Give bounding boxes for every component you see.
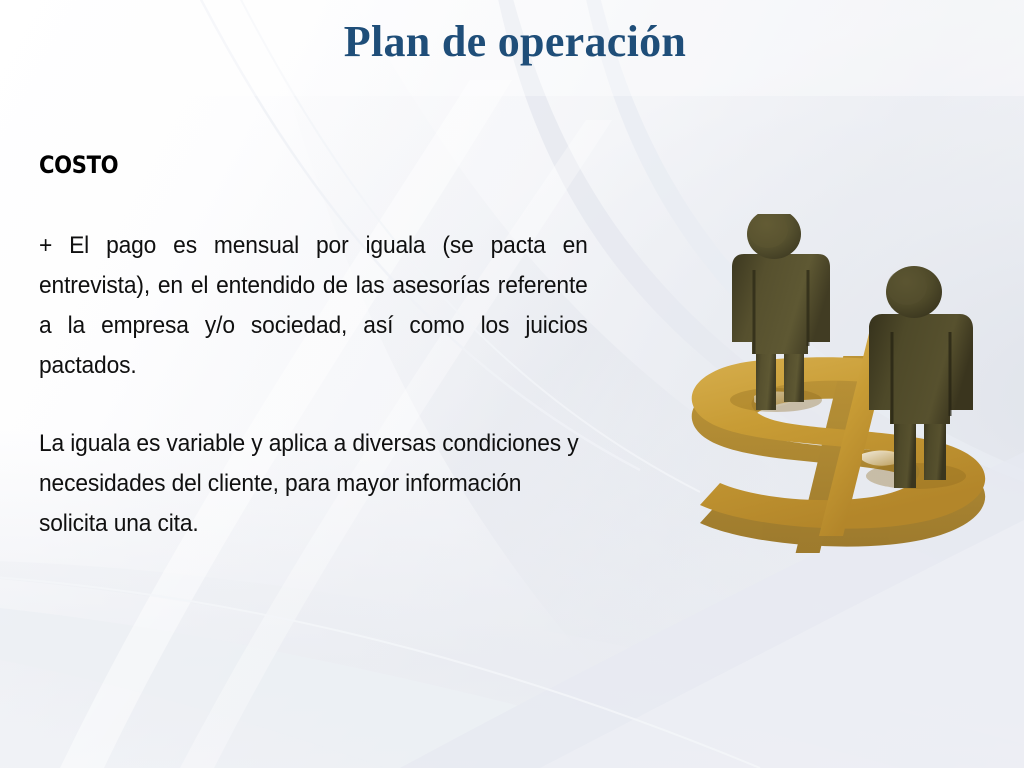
content-text-block: COSTO + El pago es mensual por iguala (s… bbox=[39, 152, 587, 544]
paragraph-iguala-variable: La iguala es variable y aplica a diversa… bbox=[39, 424, 588, 544]
slide: Plan de operación COSTO + El pago es men… bbox=[0, 0, 1024, 768]
paragraph-pago-mensual: + El pago es mensual por iguala (se pact… bbox=[39, 226, 588, 386]
section-heading-costo: COSTO bbox=[39, 152, 521, 180]
artwork-two-people-on-dollar bbox=[648, 214, 1020, 554]
slide-title: Plan de operación bbox=[160, 18, 870, 66]
dollar-people-illustration bbox=[648, 214, 1020, 554]
